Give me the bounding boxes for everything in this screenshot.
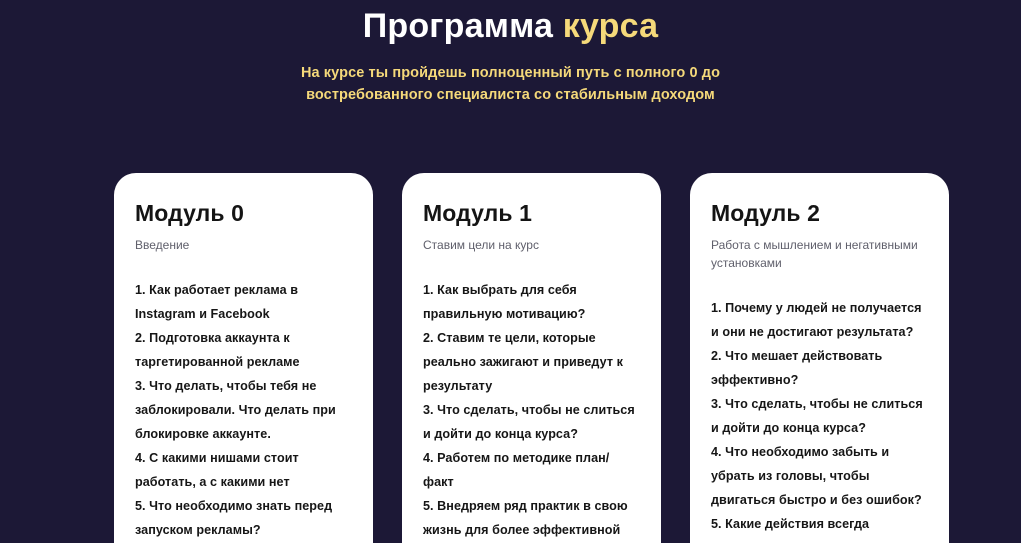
- module-card-subtitle: Введение: [135, 236, 352, 254]
- module-card-subtitle: Ставим цели на курс: [423, 236, 640, 254]
- list-item: 5. Внедряем ряд практик в свою жизнь для…: [423, 494, 640, 543]
- module-cards-row: Модуль 0 Введение 1. Как работает реклам…: [114, 173, 954, 543]
- page-subtitle: На курсе ты пройдешь полноценный путь с …: [296, 62, 726, 106]
- page-title-main: Программа: [363, 7, 563, 45]
- list-item: 2. Что мешает действовать эффективно?: [711, 344, 928, 392]
- module-card-topics: 1. Как выбрать для себя правильную мотив…: [423, 278, 640, 543]
- list-item: 2. Ставим те цели, которые реально зажиг…: [423, 326, 640, 398]
- list-item: 5. Какие действия всегда приводят к эмоц…: [711, 512, 928, 543]
- list-item: 4. Что необходимо забыть и убрать из гол…: [711, 440, 928, 512]
- page-title-accent: курса: [563, 7, 658, 45]
- module-card-1: Модуль 1 Ставим цели на курс 1. Как выбр…: [402, 173, 661, 543]
- list-item: 1. Почему у людей не получается и они не…: [711, 296, 928, 344]
- list-item: 3. Что сделать, чтобы не слиться и дойти…: [711, 392, 928, 440]
- module-card-subtitle: Работа с мышлением и негативными установ…: [711, 236, 928, 272]
- module-card-title: Модуль 0: [135, 199, 352, 227]
- module-card-2: Модуль 2 Работа с мышлением и негативным…: [690, 173, 949, 543]
- list-item: 4. Работем по методике план/факт: [423, 446, 640, 494]
- module-card-topics: 1. Почему у людей не получается и они не…: [711, 296, 928, 543]
- list-item: 3. Что делать, чтобы тебя не заблокирова…: [135, 374, 352, 446]
- list-item: 2. Подготовка аккаунта к таргетированной…: [135, 326, 352, 374]
- module-card-title: Модуль 2: [711, 199, 928, 227]
- course-program-page: Программа курса На курсе ты пройдешь пол…: [0, 0, 1021, 543]
- page-header: Программа курса На курсе ты пройдешь пол…: [0, 0, 1021, 106]
- list-item: 3. Что сделать, чтобы не слиться и дойти…: [423, 398, 640, 446]
- list-item: 1. Как работает реклама в Instagram и Fa…: [135, 278, 352, 326]
- module-card-title: Модуль 1: [423, 199, 640, 227]
- page-title: Программа курса: [0, 4, 1021, 48]
- module-card-0: Модуль 0 Введение 1. Как работает реклам…: [114, 173, 373, 543]
- list-item: 1. Как выбрать для себя правильную мотив…: [423, 278, 640, 326]
- list-item: 5. Что необходимо знать перед запуском р…: [135, 494, 352, 542]
- module-card-topics: 1. Как работает реклама в Instagram и Fa…: [135, 278, 352, 542]
- list-item: 4. С какими нишами стоит работать, а с к…: [135, 446, 352, 494]
